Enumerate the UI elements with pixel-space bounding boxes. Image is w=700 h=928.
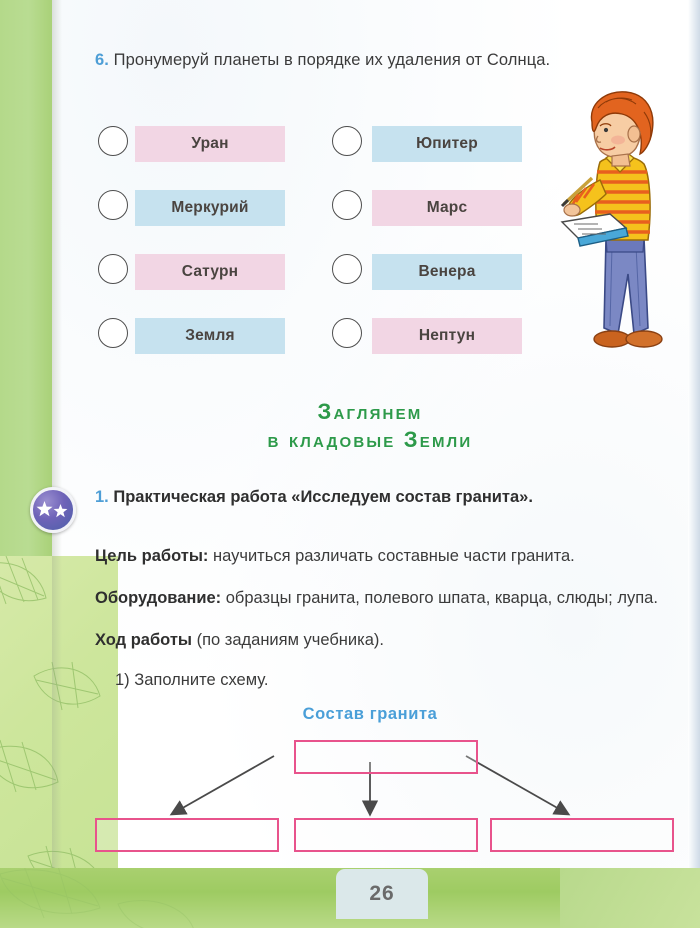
star-icon [35,500,71,520]
radio-zemlya[interactable] [98,318,128,348]
goal-line: Цель работы: научиться различать составн… [95,544,670,569]
diagram-bottom-box-3[interactable] [490,818,674,852]
radio-neptun[interactable] [332,318,362,348]
exercise-6-prompt: 6. Пронумеруй планеты в порядке их удале… [95,47,565,73]
procedure-label: Ход работы [95,631,192,649]
option-box-saturn[interactable]: Сатурн [135,254,285,290]
boy-writing-illustration [548,88,688,373]
exercise-6-number: 6. [95,51,109,69]
option-box-venera[interactable]: Венера [372,254,522,290]
diagram-bottom-box-2[interactable] [294,818,478,852]
right-page-edge [688,0,700,868]
diagram-bottom-box-1[interactable] [95,818,279,852]
option-box-merkuriy[interactable]: Меркурий [135,190,285,226]
procedure-line: Ход работы (по заданиям учебника). [95,628,670,653]
procedure-text: (по заданиям учебника). [192,631,384,649]
diagram-top-box[interactable] [294,740,478,774]
radio-venera[interactable] [332,254,362,284]
radio-merkuriy[interactable] [98,190,128,220]
radio-uran[interactable] [98,126,128,156]
option-box-yupiter[interactable]: Юпитер [372,126,522,162]
equipment-text: образцы гранита, полевого шпата, кварца,… [221,589,658,607]
radio-yupiter[interactable] [332,126,362,156]
exercise-1-title-text: Практическая работа «Исследуем состав гр… [113,488,533,506]
radio-saturn[interactable] [98,254,128,284]
option-box-uran[interactable]: Уран [135,126,285,162]
goal-label: Цель работы: [95,547,208,565]
section-heading-line1: Заглянем [318,399,423,424]
equipment-label: Оборудование: [95,589,221,607]
workbook-page: 6. Пронумеруй планеты в порядке их удале… [0,0,700,928]
page-number: 26 [336,869,428,919]
equipment-line: Оборудование: образцы гранита, полевого … [95,586,670,611]
two-stars-badge [30,487,76,533]
section-heading-line2: в кладовые Земли [52,426,688,454]
radio-mars[interactable] [332,190,362,220]
exercise-1-title: 1. Практическая работа «Исследуем состав… [95,485,670,510]
exercise-6-text: Пронумеруй планеты в порядке их удаления… [114,51,551,69]
exercise-1-number: 1. [95,488,109,506]
section-heading: Заглянем в кладовые Земли [52,398,688,454]
goal-text: научиться различать составные части гран… [208,547,574,565]
option-box-neptun[interactable]: Нептун [372,318,522,354]
option-box-mars[interactable]: Марс [372,190,522,226]
option-box-zemlya[interactable]: Земля [135,318,285,354]
